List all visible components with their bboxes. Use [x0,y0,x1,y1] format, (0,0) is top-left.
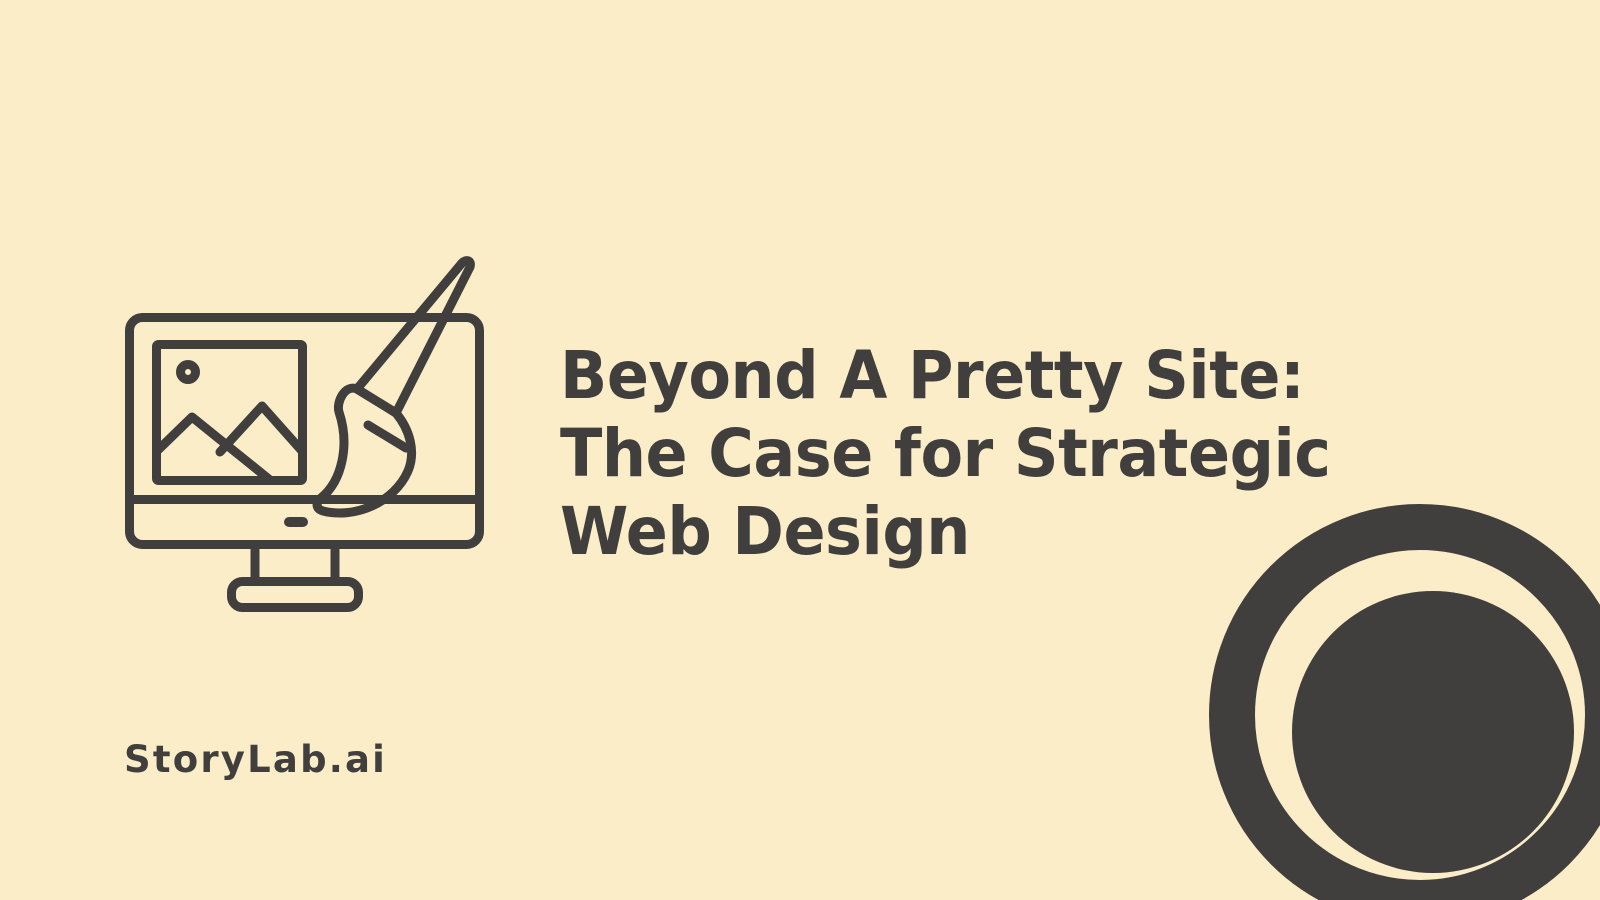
monitor-with-paintbrush-illustration [110,245,510,620]
brand-logo-text: StoryLab.ai [124,738,387,781]
monitor-stand-base [232,582,359,608]
monitor-stand-neck [255,545,335,581]
brand-logo: StoryLab.ai [124,738,387,782]
image-placeholder-mountain-front [157,417,270,480]
headline-line-3: Web Design [560,493,1303,571]
headline-line-1: Beyond A Pretty Site: [560,337,1303,415]
blog-banner-canvas: Beyond A Pretty Site: The Case for Strat… [0,0,1600,900]
headline-line-2: The Case for Strategic [560,415,1303,493]
decor-inner-disc [1292,591,1574,873]
paintbrush-handle [357,261,470,413]
image-placeholder-sun-icon [181,365,196,380]
monitor-power-indicator [284,517,308,527]
page-title: Beyond A Pretty Site: The Case for Strat… [560,337,1350,571]
decor-outer-ring [1232,527,1600,900]
paintbrush-ferrule [368,425,406,448]
